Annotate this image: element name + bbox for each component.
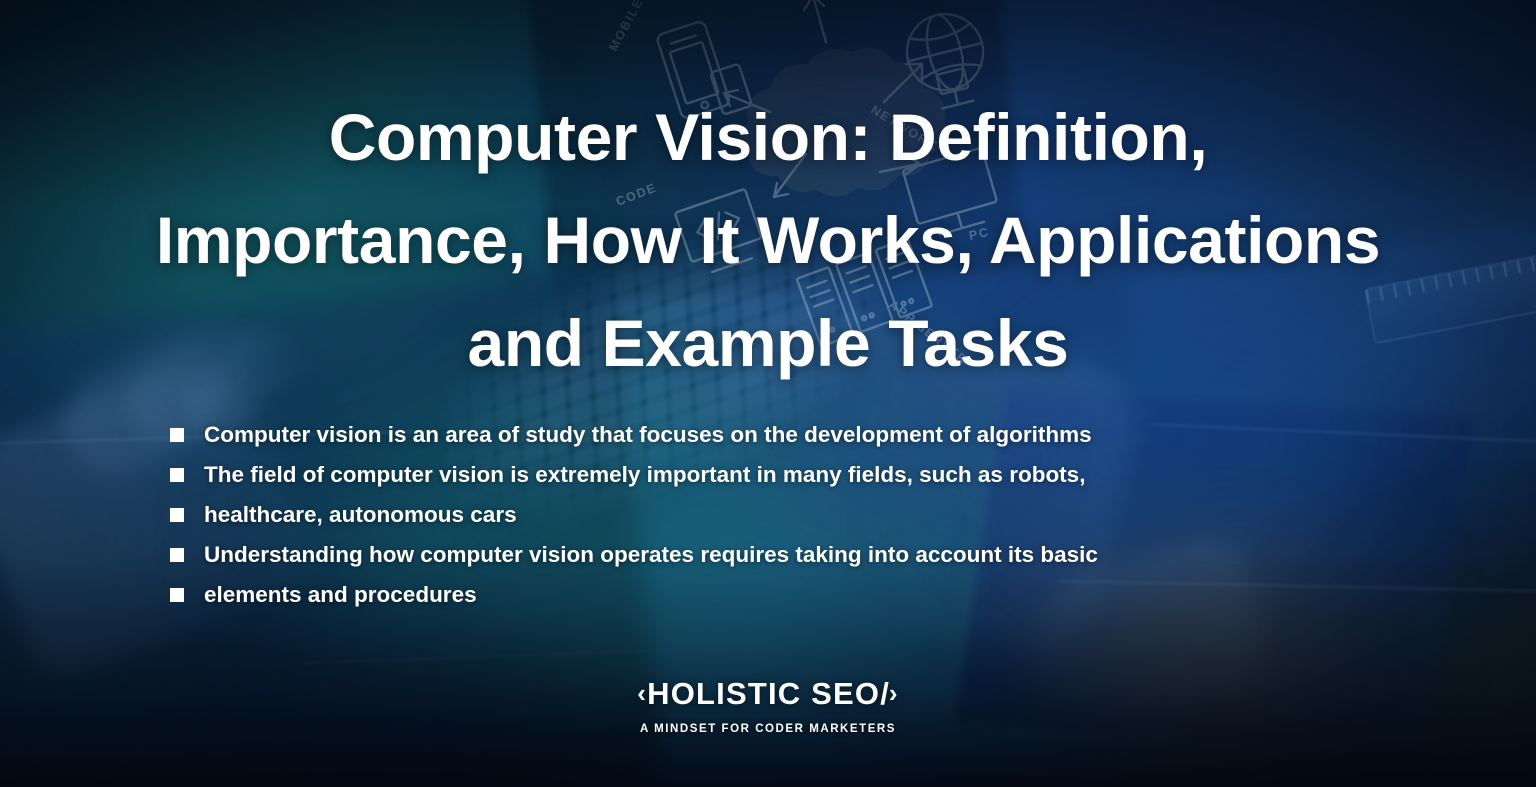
bullet-text: Computer vision is an area of study that… (204, 418, 1092, 452)
logo-tagline: A MINDSET FOR CODER MARKETERS (0, 722, 1536, 736)
title-line-3: and Example Tasks (468, 306, 1069, 380)
list-item: elements and procedures (170, 578, 1420, 618)
bullet-text: elements and procedures (204, 578, 477, 612)
bullet-text: The field of computer vision is extremel… (204, 458, 1085, 492)
logo-open-chevron-icon: ‹ (637, 678, 647, 708)
list-item: Computer vision is an area of study that… (170, 418, 1420, 458)
list-item: The field of computer vision is extremel… (170, 458, 1420, 498)
square-bullet-icon (170, 588, 184, 602)
bullet-text: Understanding how computer vision operat… (204, 538, 1098, 572)
logo-slash: / (880, 676, 889, 711)
bullet-text: healthcare, autonomous cars (204, 498, 517, 532)
square-bullet-icon (170, 548, 184, 562)
brand-logo[interactable]: ‹HOLISTIC SEO/› A MINDSET FOR CODER MARK… (0, 676, 1536, 736)
title-line-1: Computer Vision: Definition, (329, 100, 1208, 174)
logo-text: HOLISTIC SEO (647, 676, 880, 711)
list-item: Understanding how computer vision operat… (170, 538, 1420, 578)
logo-wordmark: ‹HOLISTIC SEO/› (0, 676, 1536, 713)
square-bullet-icon (170, 428, 184, 442)
bullet-list: Computer vision is an area of study that… (170, 418, 1420, 618)
square-bullet-icon (170, 508, 184, 522)
blog-banner: S S S MOBILE (0, 0, 1536, 787)
logo-close-chevron-icon: › (889, 678, 899, 708)
banner-content: Computer Vision: Definition, Importance,… (0, 0, 1536, 787)
title-line-2: Importance, How It Works, Applications (156, 203, 1380, 277)
page-title: Computer Vision: Definition, Importance,… (40, 86, 1496, 395)
list-item: healthcare, autonomous cars (170, 498, 1420, 538)
square-bullet-icon (170, 468, 184, 482)
